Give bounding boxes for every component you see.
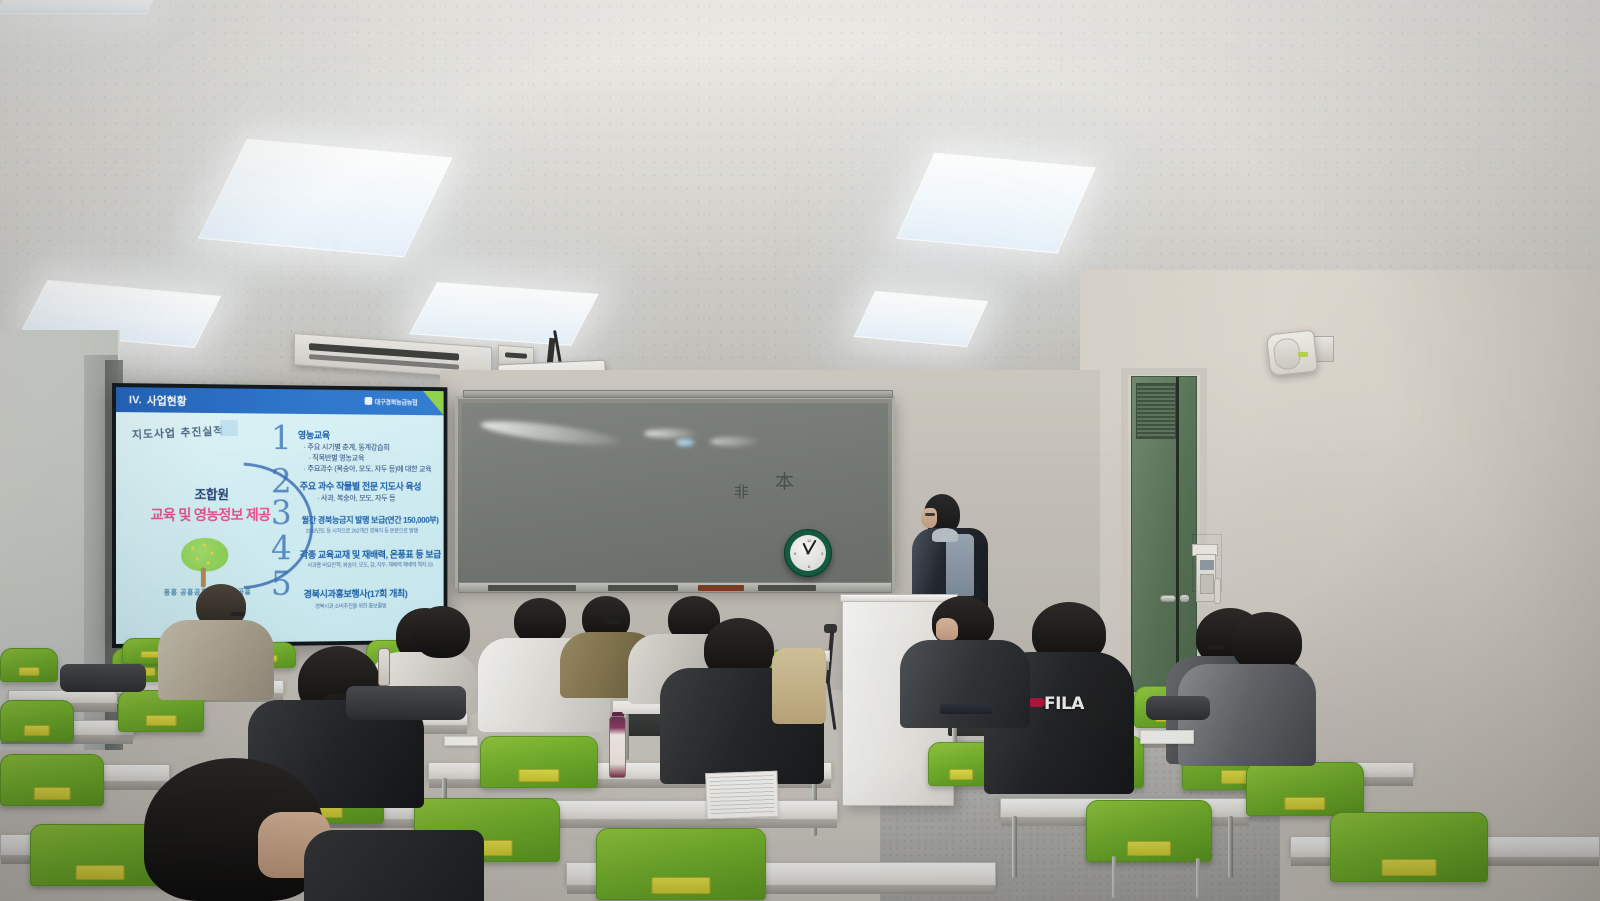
- door-louver-vent: [1136, 383, 1176, 439]
- student-body: [304, 830, 484, 901]
- slide-item-title: 월간 경북능금지 발행 보급(연간 150,000부): [302, 514, 439, 526]
- slide-item-line: · 주요 시기별 춘계, 동계강습회: [304, 441, 390, 452]
- tree-illustration-icon: [177, 538, 232, 590]
- chair[interactable]: [0, 648, 58, 682]
- student-body: [900, 640, 1030, 728]
- chair[interactable]: [0, 700, 74, 742]
- student-body: [158, 620, 274, 700]
- slide-item-title: 영농교육: [298, 428, 330, 442]
- slide-item-note: 사과용 비요만책, 복숭아, 모도, 감, 자두, 재배력 재배력 책자 23: [307, 561, 432, 569]
- student-glasses: [1208, 645, 1224, 650]
- slide-section-number: IV.: [129, 394, 142, 406]
- chair[interactable]: [1246, 762, 1364, 816]
- slide-item-title: 경북시과홍보행사(17회 개최): [304, 586, 408, 600]
- student-head: [414, 606, 470, 658]
- slide-section-title: 사업현황: [147, 392, 187, 408]
- bag: [60, 664, 146, 692]
- presenter-shirt: [946, 534, 974, 596]
- chair[interactable]: [0, 754, 104, 806]
- slide-item-line: · 사과, 복숭아, 모도, 자두 등: [317, 492, 395, 503]
- slide-item-note: 경북시과 소비추진을 위한 홍보활동: [315, 602, 386, 610]
- whiteboard-scribble: 非: [734, 481, 749, 502]
- intercom-handset[interactable]: [1214, 578, 1221, 604]
- presentation-slide: IV. 사업현황 대구경북능금농협 지도사업 추진실적 조합원 교육 및 영농정…: [116, 387, 444, 644]
- slide-body: 지도사업 추진실적 조합원 교육 및 영농정보 제공 풍흉 공흉공흉풍흉 공흉공…: [116, 412, 444, 644]
- slide-item-number: 4: [271, 536, 292, 563]
- slide-item-number: 2: [271, 469, 292, 496]
- ceiling-light-panel: [854, 291, 989, 347]
- presenter-glasses: [925, 513, 935, 516]
- drink-bottle: [609, 716, 626, 778]
- chair[interactable]: [1330, 812, 1488, 882]
- presenter-collar: [932, 528, 958, 542]
- slide-item-line: · 직목반별 영농교육: [308, 452, 364, 463]
- slide-item-line: · 주요과수 (복숭아, 모도, 자두 등)에 대한 교육: [304, 463, 432, 474]
- student-hand: [936, 618, 958, 640]
- slide-item-number: 5: [271, 571, 292, 598]
- whiteboard-top-rail: [463, 390, 893, 398]
- clock-face: 12 3 6 9: [790, 535, 826, 571]
- slide-handwritten-label: 지도사업 추진실적: [132, 423, 225, 443]
- bag: [1146, 696, 1210, 720]
- classroom-scene: IV. 사업현황 대구경북능금농협 지도사업 추진실적 조합원 교육 및 영농정…: [0, 0, 1600, 901]
- chair[interactable]: [1086, 800, 1212, 862]
- presenter-face: [921, 508, 937, 528]
- slide-left-title: 조합원: [143, 484, 280, 503]
- intercom-panel[interactable]: [1196, 554, 1216, 602]
- slide-item-note: 1992년도 등 시작으로 262개간 경북지 등 본문으로 발행: [306, 527, 418, 535]
- wall-speaker: [1266, 330, 1318, 377]
- wall-clock: 12 3 6 9: [784, 529, 832, 577]
- ceiling-light-panel: [0, 0, 154, 14]
- slide-item-title: 주요 과수 작물별 전문 지도사 육성: [300, 479, 421, 493]
- door-lock[interactable]: [1180, 595, 1189, 602]
- laptop: [940, 704, 992, 714]
- slide-item-title: 각종 교육교재 및 재배력, 온풍표 등 보급: [300, 547, 441, 561]
- bag: [346, 686, 466, 720]
- whiteboard-scribble: 本: [775, 467, 794, 494]
- projection-screen: IV. 사업현황 대구경북능금농협 지도사업 추진실적 조합원 교육 및 영농정…: [112, 383, 447, 648]
- slide-item-number: 3: [271, 500, 292, 527]
- student-glasses: [231, 612, 245, 616]
- slide-logo: 대구경북능금농협: [364, 396, 417, 406]
- slide-logo-text: 대구경북능금농협: [375, 396, 418, 406]
- handout-paper[interactable]: [444, 736, 478, 746]
- handout-paper[interactable]: [1140, 730, 1194, 744]
- chair[interactable]: [480, 736, 598, 788]
- classroom-door[interactable]: [1131, 376, 1197, 692]
- student-glasses: [606, 620, 620, 624]
- speaker-label: [1298, 352, 1308, 357]
- door-handle[interactable]: [1160, 595, 1176, 602]
- student-scarf: [772, 648, 826, 724]
- drink-bottle: [378, 648, 390, 686]
- chair[interactable]: [596, 828, 766, 900]
- slide-left-subtitle: 교육 및 영농정보 제공: [128, 504, 292, 525]
- handout-paper[interactable]: [705, 771, 779, 819]
- slide-header: IV. 사업현황 대구경북능금농협: [116, 387, 444, 415]
- slide-item-number: 1: [271, 425, 292, 452]
- fila-logo-text: FILA: [1044, 694, 1084, 714]
- slide-highlight-box: [220, 420, 238, 436]
- student-head: [1232, 612, 1302, 672]
- logo-mark-icon: [364, 397, 372, 405]
